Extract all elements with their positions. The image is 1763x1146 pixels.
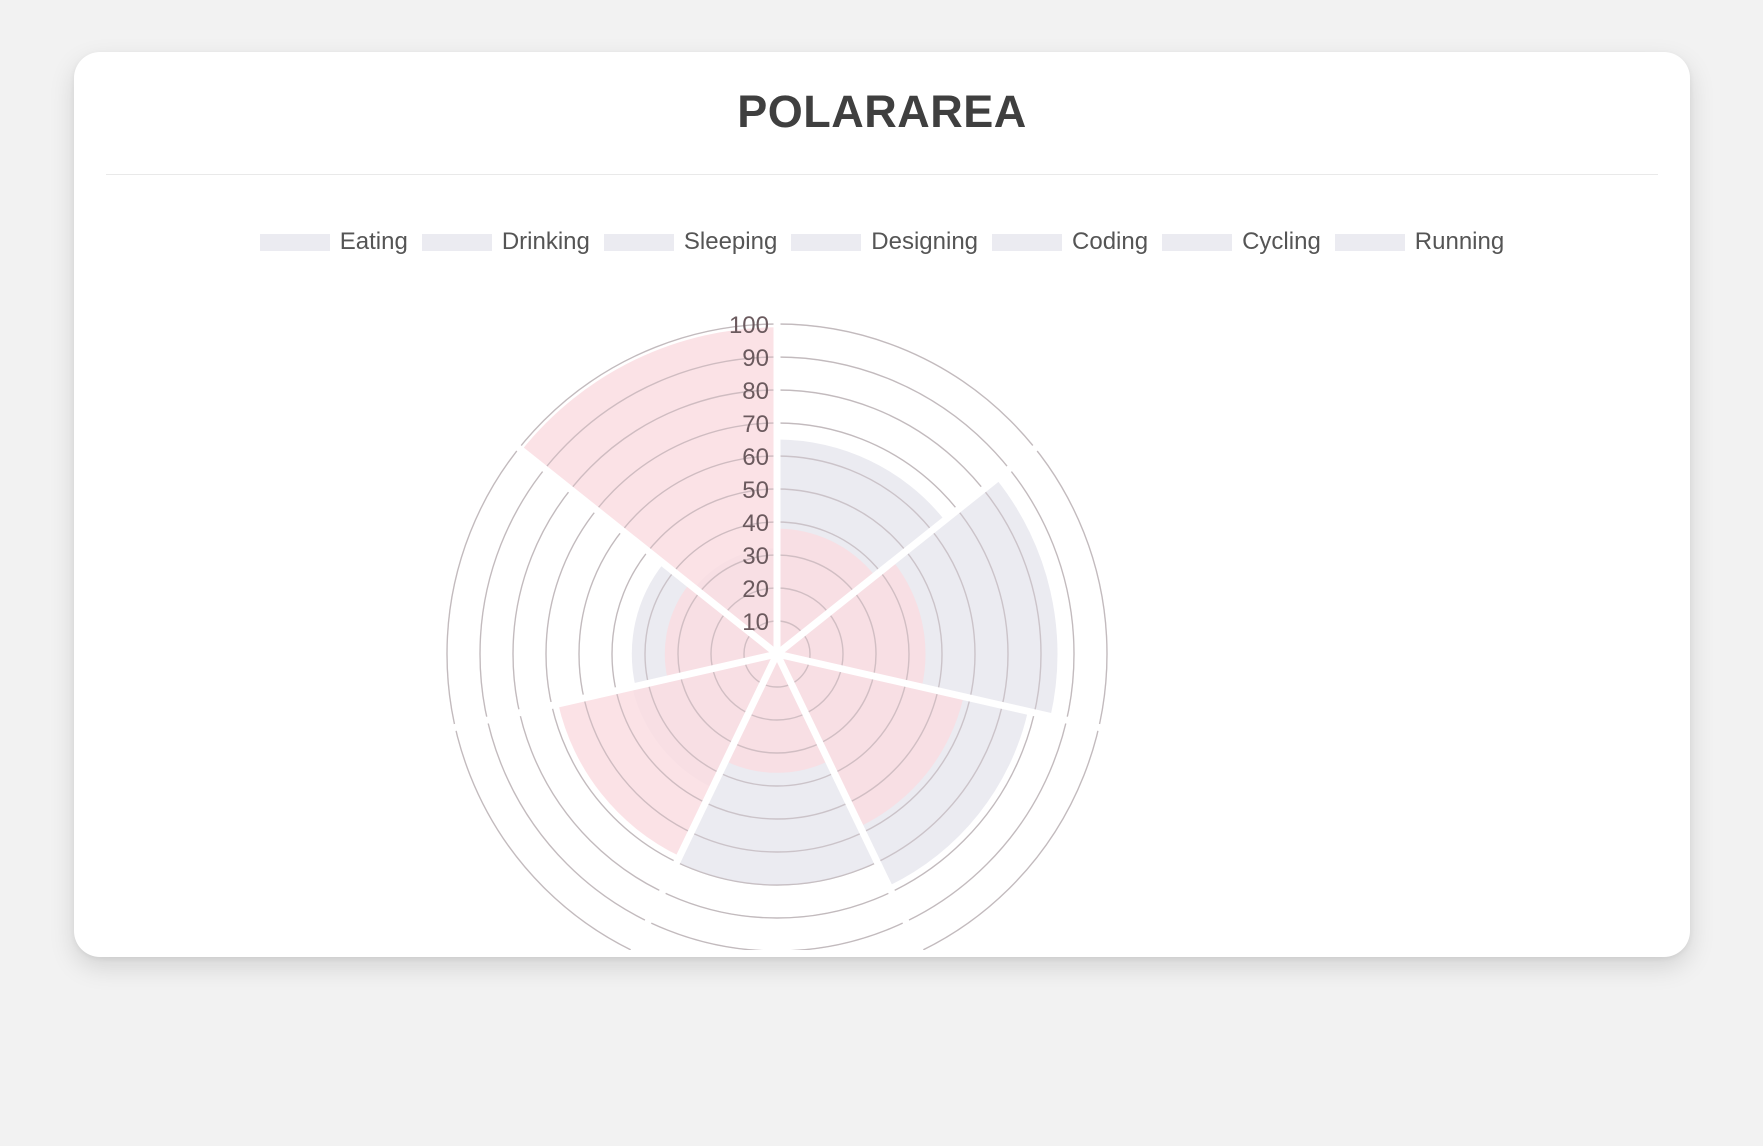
polar-chart[interactable]: 102030405060708090100 (74, 250, 1690, 950)
screenshot-root: POLARAREA EatingDrinkingSleepingDesignin… (0, 0, 1763, 1146)
chart-card: POLARAREA EatingDrinkingSleepingDesignin… (74, 52, 1690, 957)
legend-swatch-icon (992, 234, 1062, 251)
radial-tick-label-100: 100 (729, 312, 769, 339)
page-title: POLARAREA (74, 86, 1690, 138)
radial-tick-label-60: 60 (742, 444, 769, 471)
radial-tick-label-30: 30 (742, 543, 769, 570)
radial-tick-label-10: 10 (742, 609, 769, 636)
legend-swatch-icon (260, 234, 330, 251)
legend-swatch-icon (604, 234, 674, 251)
radial-tick-label-50: 50 (742, 477, 769, 504)
radial-tick-label-40: 40 (742, 510, 769, 537)
radial-tick-label-70: 70 (742, 411, 769, 438)
sector-group (522, 327, 1058, 886)
legend-swatch-icon (422, 234, 492, 251)
legend-swatch-icon (1162, 234, 1232, 251)
radial-tick-label-20: 20 (742, 576, 769, 603)
legend-swatch-icon (1335, 234, 1405, 251)
radial-tick-label-90: 90 (742, 345, 769, 372)
radial-tick-label-80: 80 (742, 378, 769, 405)
legend-swatch-icon (791, 234, 861, 251)
header-divider (106, 174, 1658, 175)
